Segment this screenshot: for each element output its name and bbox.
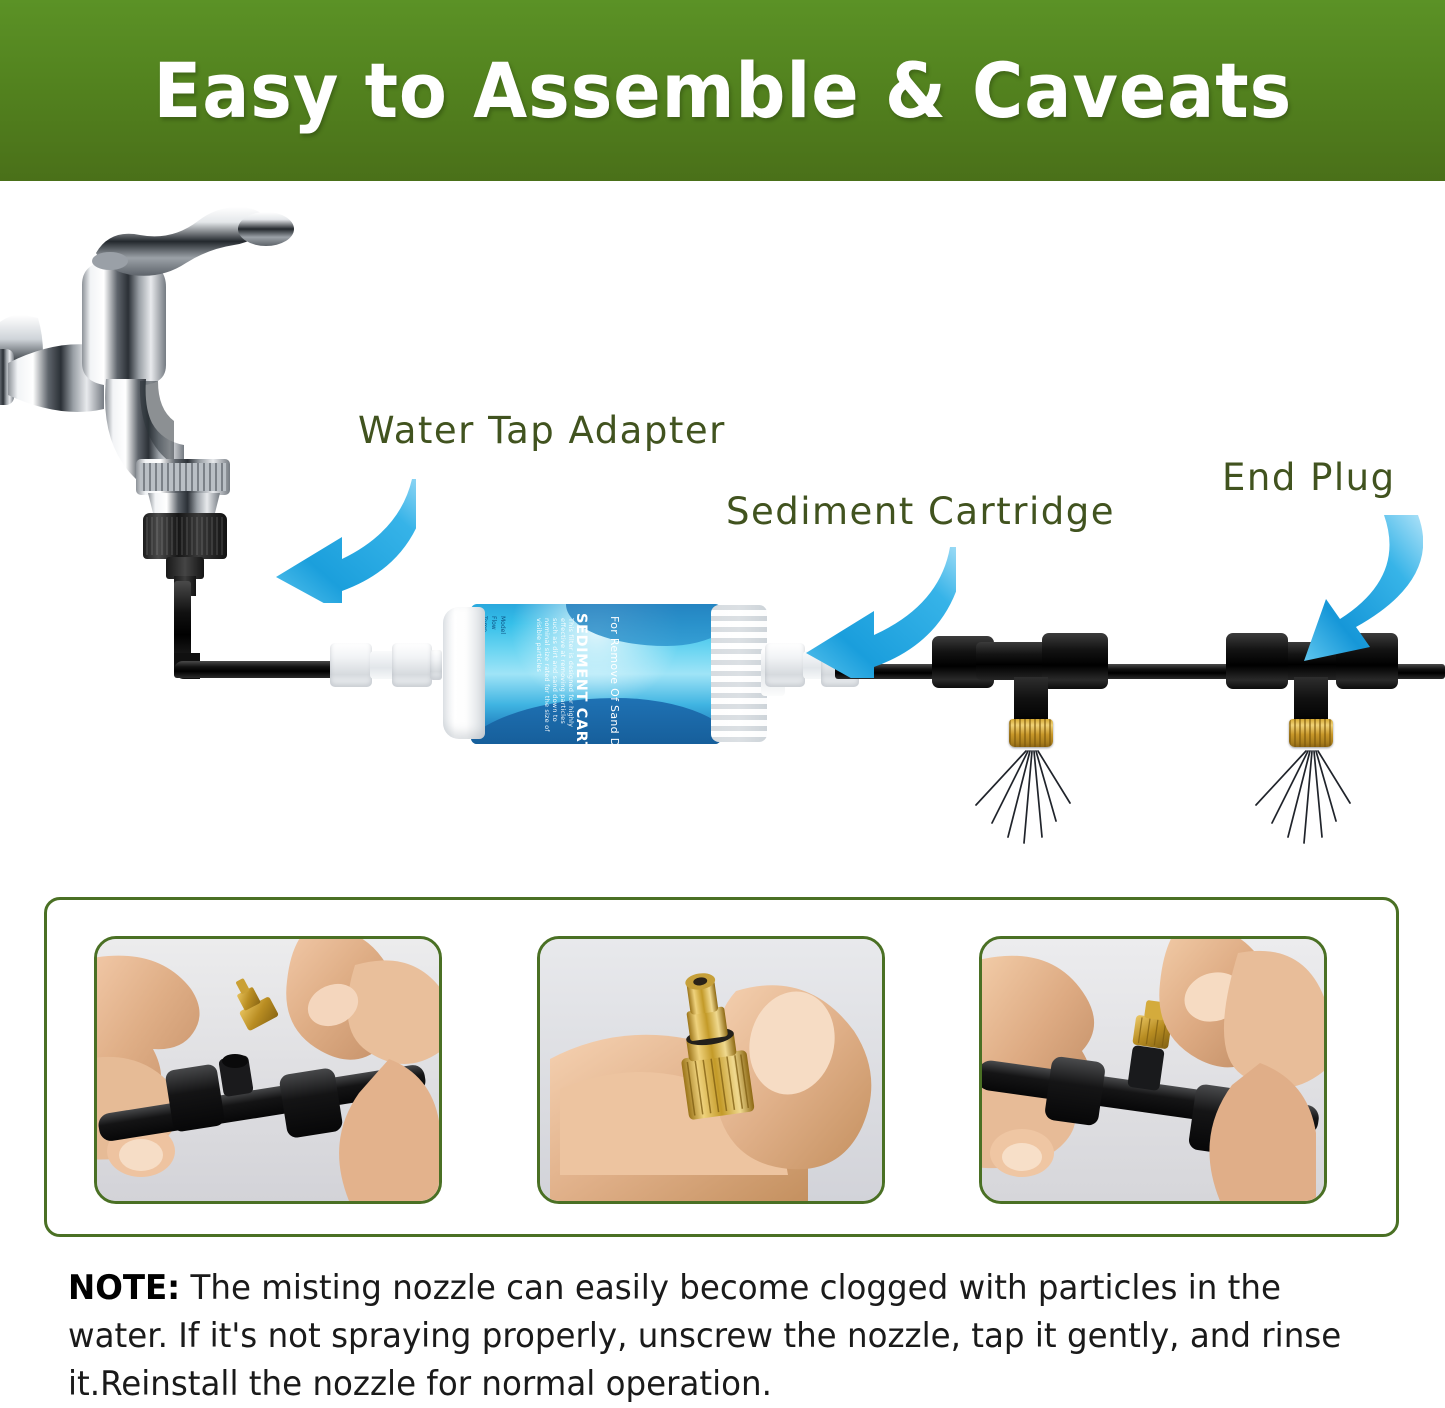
sediment-cartridge-filter: SEDIMENT CARTRIDGE For Remove Of Sand Di… [443, 604, 783, 744]
label-sediment-cartridge: Sediment Cartridge [726, 493, 1115, 530]
label-water-tap-adapter: Water Tap Adapter [358, 412, 726, 449]
note-label: NOTE: [68, 1268, 180, 1307]
note-body: The misting nozzle can easily become clo… [68, 1268, 1341, 1403]
cartridge-fine-print: This filter is designed for highly effec… [535, 618, 575, 736]
pointer-arrow-end-plug [1238, 513, 1423, 663]
cartridge-subtitle: For Remove Of Sand Dirt And Rust Particl… [608, 616, 621, 744]
pointer-arrow-tap-adapter [226, 473, 416, 603]
supply-tube-horizontal [174, 661, 344, 678]
page-title: Easy to Assemble & Caveats [153, 53, 1292, 129]
cartridge-end-cap-left [443, 607, 485, 739]
assembly-diagram: SEDIMENT CARTRIDGE For Remove Of Sand Di… [0, 181, 1445, 891]
cartridge-end-cap-right [711, 605, 767, 742]
mist-spray-1 [960, 747, 1100, 857]
white-quick-connect-left [330, 643, 440, 687]
photo-panel-insert-nozzle [94, 936, 442, 1204]
brass-misting-nozzle-1 [1009, 719, 1053, 747]
instruction-photo-container [44, 897, 1399, 1237]
note-text: NOTE: The misting nozzle can easily beco… [68, 1264, 1353, 1408]
pointer-arrow-sediment-cartridge [766, 543, 956, 678]
header-banner: Easy to Assemble & Caveats [0, 0, 1445, 181]
photo-panel-tighten-nozzle [979, 936, 1327, 1204]
photo-panel-nozzle-closeup [537, 936, 885, 1204]
label-end-plug: End Plug [1222, 459, 1396, 496]
brass-misting-nozzle-2 [1289, 719, 1333, 747]
mist-spray-2 [1240, 747, 1380, 857]
